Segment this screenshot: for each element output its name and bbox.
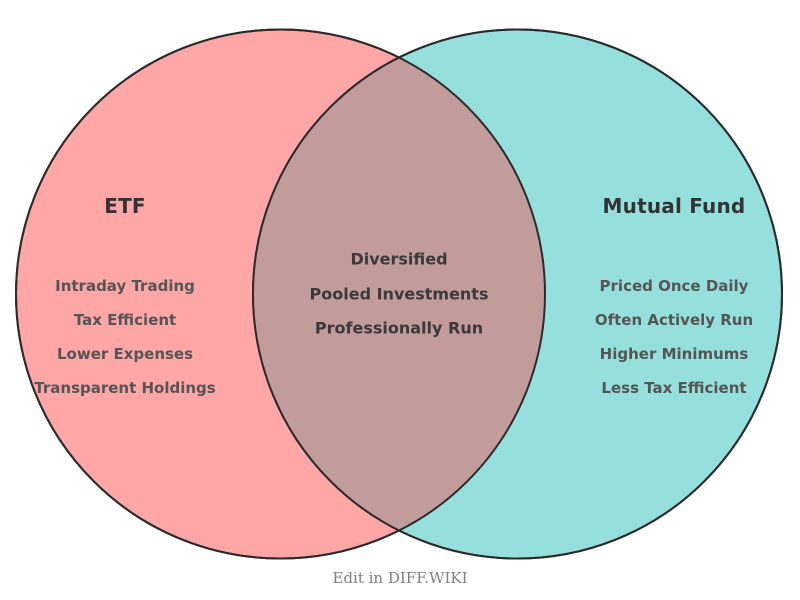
venn-shapes [0, 0, 800, 600]
edit-in-diffwiki-link[interactable]: Edit in DIFF.WIKI [332, 569, 467, 587]
venn-diagram-canvas: ETF Intraday Trading Tax Efficient Lower… [0, 0, 800, 600]
